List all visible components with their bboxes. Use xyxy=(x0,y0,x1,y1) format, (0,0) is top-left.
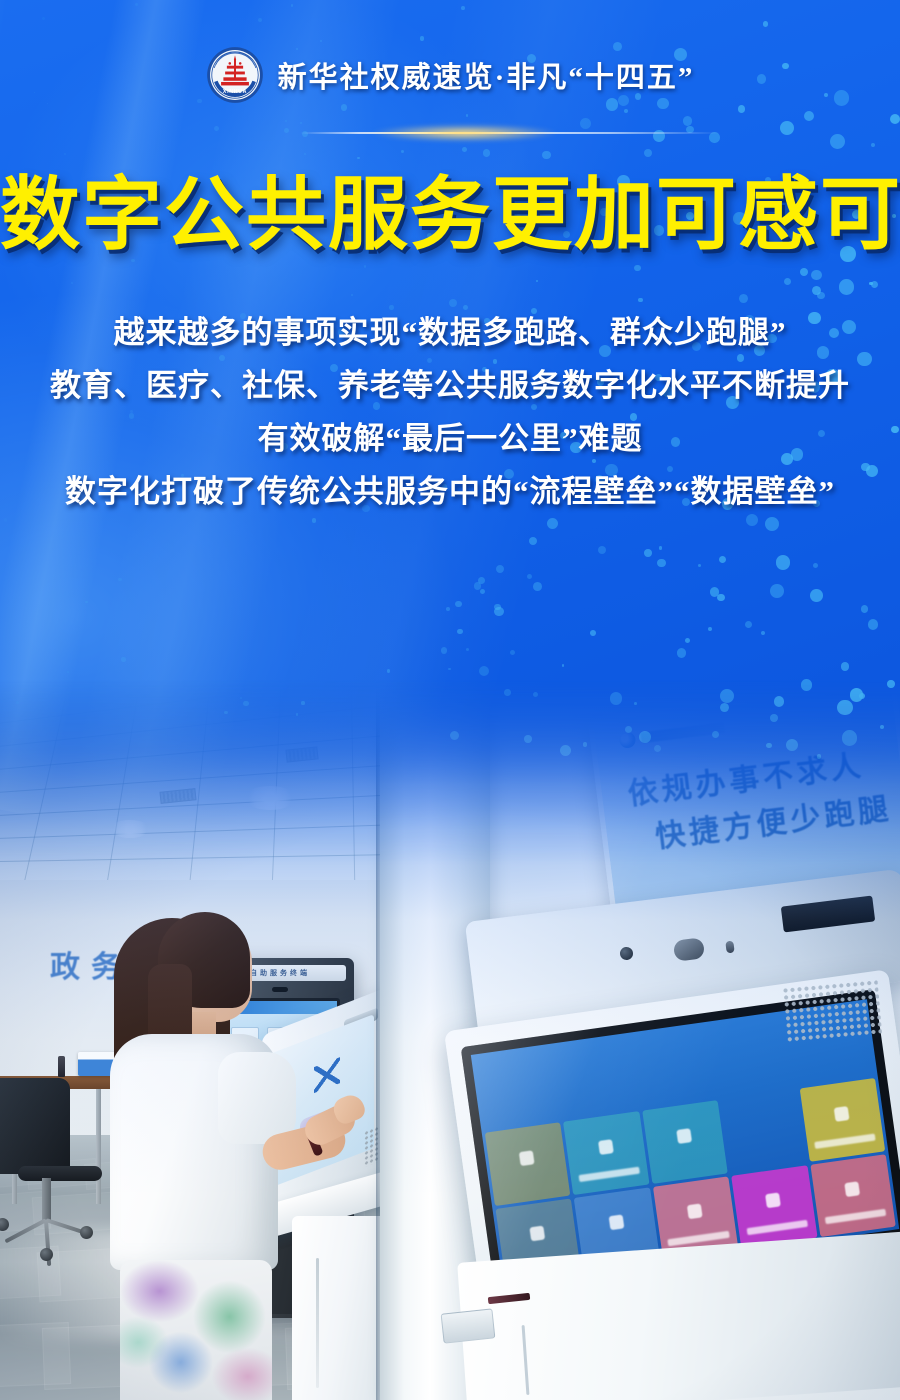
background-dot xyxy=(441,647,447,653)
background-dot xyxy=(494,607,504,617)
kiosk-menu-tile[interactable] xyxy=(731,1165,817,1248)
ceiling-line xyxy=(0,852,430,863)
page-title: 数字公共服务更加可感可及 xyxy=(0,176,900,256)
kiosk-menu-tile[interactable] xyxy=(631,1025,717,1108)
masthead-title: 新华社权威速览·非凡“十四五” xyxy=(278,54,695,96)
background-dot xyxy=(776,555,790,569)
background-dot xyxy=(638,298,643,303)
background-dot xyxy=(811,270,822,281)
kiosk-tile-icon xyxy=(844,1181,860,1197)
ceiling-vent-icon xyxy=(159,788,196,804)
background-dot xyxy=(401,150,404,153)
ceiling-line xyxy=(0,789,430,819)
ceiling-vent-icon xyxy=(285,746,318,762)
masthead-header: XINHUA 新华社权威速览·非凡“十四五” xyxy=(0,0,900,150)
background-dot xyxy=(710,587,720,597)
background-dot xyxy=(698,564,701,567)
kiosk-menu-tile[interactable] xyxy=(721,1089,807,1172)
background-dot xyxy=(455,601,461,607)
chair-wheel xyxy=(40,1248,53,1261)
background-dot xyxy=(717,594,725,602)
background-dot xyxy=(527,574,532,579)
photograph-government-service-hall: 政务公开区 自助服务终端 xyxy=(0,680,900,1400)
background-dot xyxy=(659,546,662,549)
background-dot xyxy=(547,518,558,529)
background-dot xyxy=(533,582,542,591)
xinhua-news-agency-logo: XINHUA xyxy=(206,46,264,104)
ceiling-line xyxy=(0,820,430,841)
background-dot xyxy=(4,518,7,521)
background-dot xyxy=(813,563,818,568)
background-dot xyxy=(817,292,824,299)
background-dot xyxy=(598,546,606,554)
kiosk-tile-icon xyxy=(833,1106,849,1122)
background-dot xyxy=(478,577,485,584)
background-dot xyxy=(644,549,652,557)
background-dot xyxy=(841,662,850,671)
background-dot xyxy=(685,638,691,644)
kiosk-tile-label xyxy=(579,1167,641,1182)
kiosk-vent-grille-icon xyxy=(782,979,883,1043)
kiosk-tile-icon xyxy=(765,1192,781,1208)
background-dot xyxy=(871,281,878,288)
background-dot xyxy=(480,589,485,594)
tie-dye-pants xyxy=(120,1260,272,1400)
background-dot xyxy=(536,280,538,282)
background-dot xyxy=(812,286,821,295)
kiosk-sensor-icon xyxy=(725,941,734,954)
body-text-block: 越来越多的事项实现“数据多跑路、群众少跑腿” 教育、医疗、社保、养老等公共服务数… xyxy=(0,306,900,518)
kiosk-tile-icon xyxy=(519,1150,535,1166)
background-dot xyxy=(644,149,652,157)
background-dot xyxy=(496,565,504,573)
background-dot xyxy=(719,556,727,564)
tshirt-sleeve xyxy=(218,1052,296,1144)
ceiling-line xyxy=(350,680,356,880)
background-dot xyxy=(810,589,823,602)
kiosk-menu-tile[interactable] xyxy=(642,1100,728,1183)
body-line: 数字化打破了传统公共服务中的“流程壁垒”“数据壁垒” xyxy=(0,465,900,518)
background-dot xyxy=(479,666,489,676)
background-dot xyxy=(71,282,73,284)
background-dot xyxy=(457,629,463,635)
background-dot xyxy=(304,153,306,155)
kiosk-tile-icon xyxy=(676,1128,692,1144)
kiosk-tile-icon xyxy=(598,1139,614,1155)
background-dot xyxy=(387,669,391,673)
chair-wheel xyxy=(80,1226,93,1239)
background-dot xyxy=(868,619,878,629)
background-dot xyxy=(446,607,450,611)
office-chair-arm xyxy=(18,1166,102,1181)
background-dot xyxy=(121,657,126,662)
kiosk-menu-tile[interactable] xyxy=(799,1078,885,1161)
ceiling-line xyxy=(13,680,79,880)
background-dot xyxy=(357,157,360,160)
office-chair-back xyxy=(0,1078,70,1174)
poster-canvas: 政务公开区 自助服务终端 xyxy=(0,0,900,1400)
background-dot xyxy=(657,559,666,568)
background-dot xyxy=(529,537,537,545)
body-line: 有效破解“最后一公里”难题 xyxy=(0,412,900,465)
ceiling-line xyxy=(184,680,215,880)
background-dot xyxy=(312,518,316,522)
svg-text:XINHUA: XINHUA xyxy=(223,89,247,95)
background-dot xyxy=(765,517,779,531)
background-dot xyxy=(466,648,469,651)
background-dot xyxy=(510,650,515,655)
background-dot xyxy=(739,294,748,303)
office-chair-post xyxy=(42,1178,51,1222)
background-dot xyxy=(761,631,765,635)
background-dot xyxy=(483,149,490,156)
desk-bottle xyxy=(58,1056,65,1077)
ceiling-line xyxy=(269,680,283,880)
background-dot xyxy=(800,268,808,276)
kiosk-menu-tile[interactable] xyxy=(710,1014,796,1097)
kiosk-menu-tile[interactable] xyxy=(563,1111,649,1194)
background-dot xyxy=(351,294,354,297)
background-dot xyxy=(770,584,784,598)
background-dot xyxy=(64,153,66,155)
ceiling-downlight-icon xyxy=(110,820,150,838)
background-dot xyxy=(542,151,550,159)
background-dot xyxy=(118,578,122,582)
ceiling-line xyxy=(0,680,430,687)
kiosk-printer-slot[interactable] xyxy=(441,1308,496,1343)
background-dot xyxy=(634,265,641,272)
body-line: 教育、医疗、社保、养老等公共服务数字化水平不断提升 xyxy=(0,359,900,412)
ceiling-downlight-icon xyxy=(244,786,296,810)
person-using-kiosk xyxy=(96,912,346,1400)
body-line: 越来越多的事项实现“数据多跑路、群众少跑腿” xyxy=(0,306,900,359)
background-dot xyxy=(85,601,87,603)
kiosk-menu-tile[interactable] xyxy=(810,1154,896,1237)
kiosk-tile-icon xyxy=(608,1215,624,1231)
background-dot xyxy=(745,621,753,629)
kiosk-tile-label xyxy=(746,1220,808,1235)
ceiling-line xyxy=(0,725,430,775)
kiosk-tile-label xyxy=(825,1209,887,1224)
kiosk-menu-tile[interactable] xyxy=(485,1122,571,1205)
background-dot xyxy=(784,278,792,286)
large-touchscreen-kiosk[interactable] xyxy=(452,895,900,1400)
background-dot xyxy=(590,630,596,636)
background-dot xyxy=(869,282,873,286)
background-dot xyxy=(364,265,367,268)
background-dot xyxy=(677,648,686,657)
background-dot xyxy=(474,582,481,589)
background-dot xyxy=(494,604,501,611)
ceiling-grid xyxy=(0,680,430,880)
ceiling-line xyxy=(0,680,11,880)
background-dot xyxy=(861,605,869,613)
background-dot xyxy=(839,279,855,295)
background-dot xyxy=(448,668,451,671)
kiosk-tile-label xyxy=(814,1133,876,1148)
background-dot xyxy=(67,671,70,674)
background-dot xyxy=(708,627,712,631)
kiosk-menu-tile[interactable] xyxy=(474,1047,560,1130)
kiosk-menu-tile[interactable] xyxy=(553,1036,639,1119)
kiosk-tile-icon xyxy=(687,1204,703,1220)
background-dot xyxy=(562,664,565,667)
kiosk-tile-icon xyxy=(530,1226,546,1242)
